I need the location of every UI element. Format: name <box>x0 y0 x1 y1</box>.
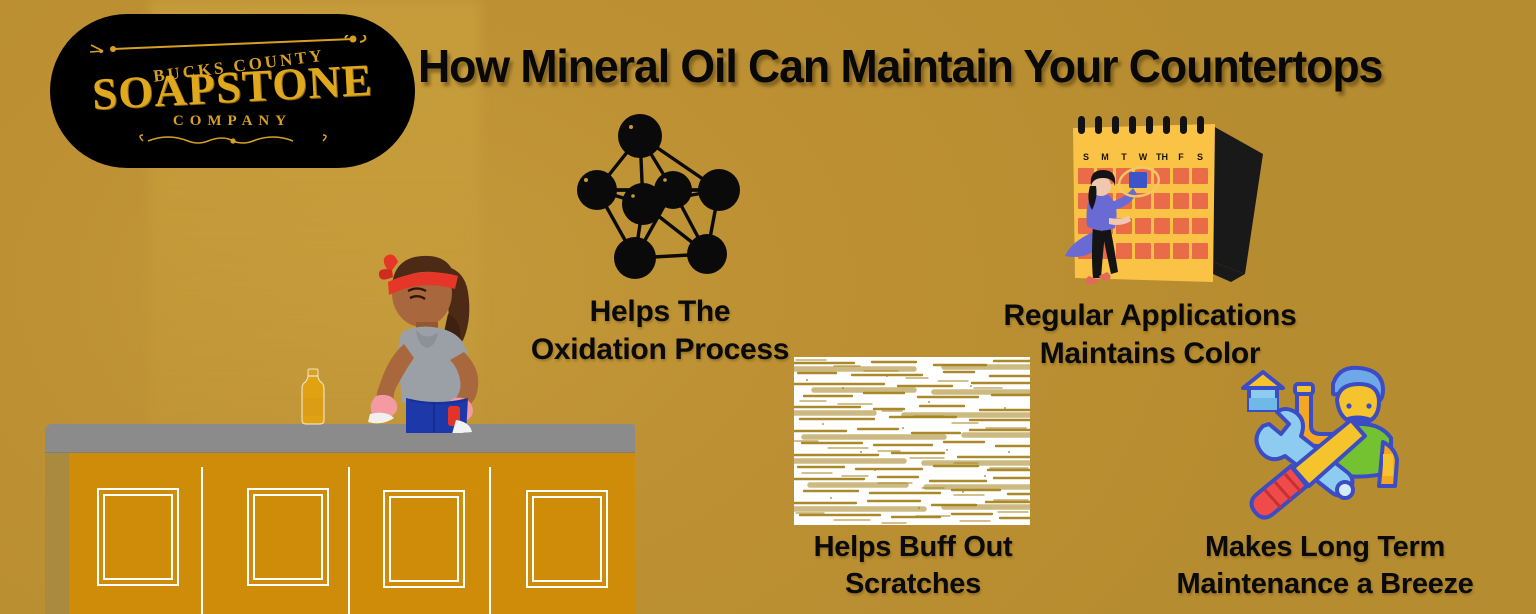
caption-line-1: Helps Buff Out <box>790 529 1036 566</box>
caption-regular-applications: Regular Applications Maintains Color <box>985 297 1315 373</box>
cabinet-panel <box>526 490 608 588</box>
cabinet-panel <box>383 490 465 588</box>
handyman-tools-icon <box>1233 362 1418 520</box>
molecule-atom <box>622 183 664 225</box>
caption-long-term-maintenance: Makes Long Term Maintenance a Breeze <box>1155 529 1495 602</box>
logo-bottom-flourish-icon <box>138 134 328 148</box>
page-title: How Mineral Oil Can Maintain Your Counte… <box>418 37 1493 99</box>
svg-text:W: W <box>1139 152 1148 162</box>
caption-line-2: Scratches <box>790 566 1036 603</box>
calendar-stand <box>1213 126 1263 274</box>
molecule-atom <box>698 169 740 211</box>
house-icon <box>1243 372 1283 410</box>
caption-buff-scratches: Helps Buff Out Scratches <box>790 529 1036 602</box>
logo-bottom-text: COMPANY <box>173 113 292 130</box>
infographic-canvas: BUCKS COUNTY SOAPSTONE COMPANY How Miner… <box>0 0 1536 614</box>
molecule-icon <box>573 112 748 287</box>
logo-main-text: SOAPSTONE <box>91 57 374 117</box>
caption-line-1: Regular Applications <box>985 297 1315 335</box>
svg-text:M: M <box>1101 152 1109 162</box>
molecule-atom <box>577 170 617 210</box>
svg-text:T: T <box>1121 152 1127 162</box>
cabinet-divider <box>201 467 203 614</box>
molecule-atom <box>618 114 662 158</box>
caption-line-1: Helps The <box>500 293 820 331</box>
cabinet-divider <box>489 467 491 614</box>
cabinet-panel <box>247 488 329 586</box>
woman-cleaning-illustration <box>330 248 520 433</box>
cabinet-side-shadow <box>45 453 69 614</box>
svg-text:S: S <box>1083 152 1089 162</box>
molecule-atom <box>614 237 656 279</box>
cabinet-panel <box>97 488 179 586</box>
cabinet-divider <box>348 467 350 614</box>
molecule-atom <box>687 234 727 274</box>
svg-text:S: S <box>1197 152 1203 162</box>
svg-text:TH: TH <box>1156 152 1168 162</box>
logo-top-flourish-icon <box>83 35 383 53</box>
caption-line-1: Makes Long Term <box>1155 529 1495 566</box>
caption-line-2: Oxidation Process <box>500 331 820 369</box>
caption-line-2: Maintains Color <box>985 335 1315 373</box>
calendar-icon: S M T W TH F S <box>1063 114 1273 294</box>
mineral-oil-bottle-icon <box>298 368 328 426</box>
svg-text:F: F <box>1178 152 1184 162</box>
caption-oxidation: Helps The Oxidation Process <box>500 293 820 369</box>
scratch-texture-swatch <box>794 357 1030 525</box>
company-logo[interactable]: BUCKS COUNTY SOAPSTONE COMPANY <box>50 14 415 168</box>
caption-line-2: Maintenance a Breeze <box>1155 566 1495 603</box>
